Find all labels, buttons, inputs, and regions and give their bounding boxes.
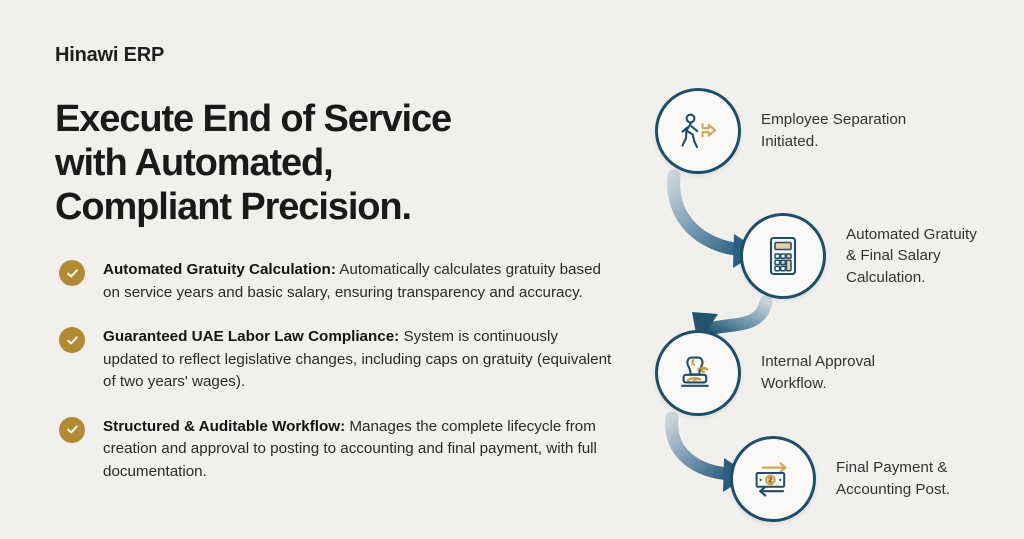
flow-step-1-label: Employee Separation Initiated. xyxy=(761,109,906,152)
banknote-exchange-icon xyxy=(730,436,816,522)
left-content-column: Hinawi ERP Execute End of Service with A… xyxy=(55,44,615,483)
list-item: Automated Gratuity Calculation: Automati… xyxy=(55,259,615,304)
brand-title: Hinawi ERP xyxy=(55,44,615,67)
list-item: Guaranteed UAE Labor Law Compliance: Sys… xyxy=(55,326,615,394)
process-flow-diagram: Employee Separation Initiated. Autom xyxy=(630,0,1024,539)
flow-step-4-label: Final Payment & Accounting Post. xyxy=(836,457,950,500)
bullet-lead: Structured & Auditable Workflow: xyxy=(103,418,345,435)
flow-step-3[interactable]: Internal Approval Workflow. xyxy=(655,330,875,416)
list-item: Structured & Auditable Workflow: Manages… xyxy=(55,416,615,484)
walking-person-exit-icon xyxy=(655,88,741,174)
check-icon xyxy=(59,327,85,353)
check-icon xyxy=(59,260,85,286)
flow-step-2-label: Automated Gratuity & Final Salary Calcul… xyxy=(846,224,977,289)
check-icon xyxy=(59,417,85,443)
flow-step-3-label: Internal Approval Workflow. xyxy=(761,351,875,394)
flow-step-4[interactable]: Final Payment & Accounting Post. xyxy=(730,436,950,522)
flow-step-1[interactable]: Employee Separation Initiated. xyxy=(655,88,906,174)
calculator-icon xyxy=(740,213,826,299)
bullet-lead: Automated Gratuity Calculation: xyxy=(103,261,336,278)
flow-step-2[interactable]: Automated Gratuity & Final Salary Calcul… xyxy=(740,213,977,299)
page-title: Execute End of Service with Automated, C… xyxy=(55,97,615,229)
slide-canvas: Hinawi ERP Execute End of Service with A… xyxy=(0,0,1024,539)
bullet-lead: Guaranteed UAE Labor Law Compliance: xyxy=(103,328,399,345)
feature-bullet-list: Automated Gratuity Calculation: Automati… xyxy=(55,259,615,483)
approval-stamp-icon xyxy=(655,330,741,416)
